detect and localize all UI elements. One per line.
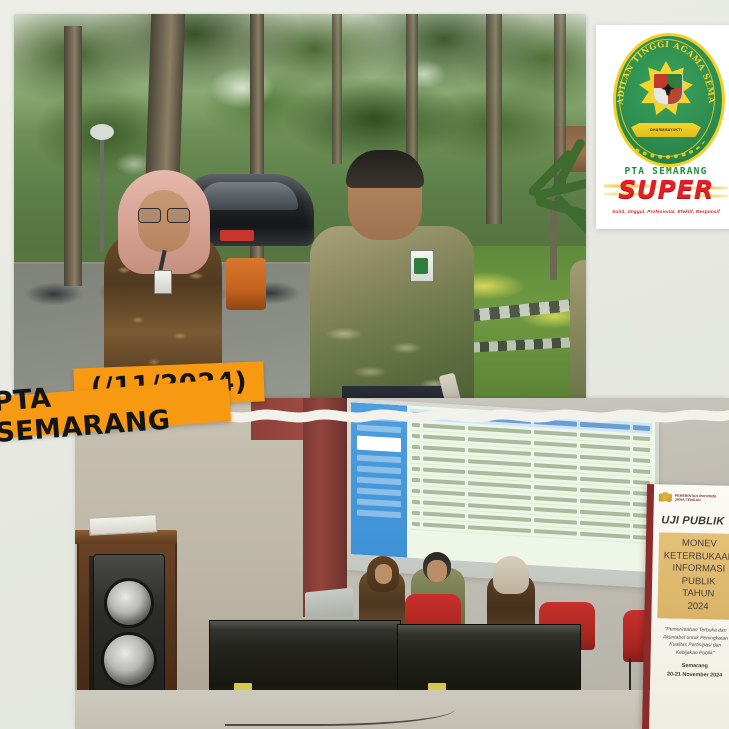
banner-footer-date: 20-21 November 2024 <box>650 670 729 680</box>
person-woman-glasses <box>138 208 190 221</box>
banner-quote: "Pemerintahan Terbuka dan Akuntabel untu… <box>651 618 729 658</box>
tree-trunk <box>64 26 82 286</box>
garuda-icon <box>659 490 672 504</box>
panelist-woman-face <box>375 564 392 584</box>
podium-sign <box>89 514 158 536</box>
table-header-cell <box>423 413 465 421</box>
person-woman-id-badge <box>154 270 172 294</box>
app-sidebar <box>351 402 407 557</box>
rollup-banner: PEMERINTAH PROVINSI JAWA TENGAH UJI PUBL… <box>642 484 729 729</box>
desk-top-edge <box>398 625 580 635</box>
brand-tagline: Solid, Unggul, Profesional, Efektif, Res… <box>601 209 729 214</box>
orange-barrier <box>226 258 266 310</box>
lamp-head <box>90 124 114 140</box>
license-plate <box>220 230 254 241</box>
logo-card: PENGADILAN TINGGI AGAMA SEMARANG DHARMMA… <box>596 25 729 229</box>
emblem-scroll-label: DHARMMAYUKTI <box>631 123 701 137</box>
banner-subject-box: MONEV KETERBUKAAN INFORMASI PUBLIK TAHUN… <box>657 532 729 620</box>
panelist-woman2-hijab <box>493 556 529 594</box>
brand-word: SUPER <box>600 176 729 204</box>
table-header-cell <box>580 422 631 430</box>
banner-header: PEMERINTAH PROVINSI JAWA TENGAH <box>654 484 729 508</box>
table-header-cell <box>412 412 420 417</box>
sidebar-item <box>357 488 401 497</box>
table-header-cell <box>468 415 531 424</box>
court-emblem-icon: PENGADILAN TINGGI AGAMA SEMARANG DHARMMA… <box>607 31 725 163</box>
emblem-shield <box>653 73 683 105</box>
photo-top-outdoor <box>14 14 586 404</box>
sidebar-item <box>357 466 401 475</box>
photo-bottom-seminar <box>75 398 729 729</box>
table-header-cell <box>534 419 576 427</box>
emblem-scroll: DHARMMAYUKTI <box>631 123 701 137</box>
tree-trunk <box>332 14 342 164</box>
sedan-windshield <box>200 182 298 210</box>
table-header-cell <box>633 425 650 431</box>
app-data-table <box>407 406 655 573</box>
sidebar-item <box>357 510 401 519</box>
poster-canvas: PENGADILAN TINGGI AGAMA SEMARANG DHARMMA… <box>0 0 729 729</box>
banner-subject-line: INFORMASI <box>662 562 729 576</box>
banner-title: UJI PUBLIK <box>653 506 729 534</box>
sidebar-item <box>357 425 401 434</box>
lamp-post <box>100 132 104 252</box>
projected-application <box>351 402 655 572</box>
desk-top-edge <box>210 621 400 631</box>
speaker-cone <box>107 581 151 625</box>
sidebar-item <box>357 414 401 423</box>
sidebar-item <box>357 477 401 486</box>
banner-org-text: PEMERINTAH PROVINSI JAWA TENGAH <box>675 493 716 502</box>
sidebar-item-active <box>357 436 401 453</box>
speaker-cone <box>104 635 154 685</box>
person-man-id-badge-emblem <box>414 258 428 274</box>
brand-wordmark: SUPER <box>600 176 729 208</box>
sidebar-item <box>357 499 401 508</box>
tree-trunk <box>486 14 502 224</box>
red-pillar-top <box>251 398 305 440</box>
person-partial-right <box>570 260 586 404</box>
sticker-place: PTA SEMARANG <box>0 379 231 439</box>
banner-subject-line: 2024 <box>661 600 729 614</box>
sidebar-item <box>357 455 401 464</box>
panelist-man-face <box>427 560 447 582</box>
